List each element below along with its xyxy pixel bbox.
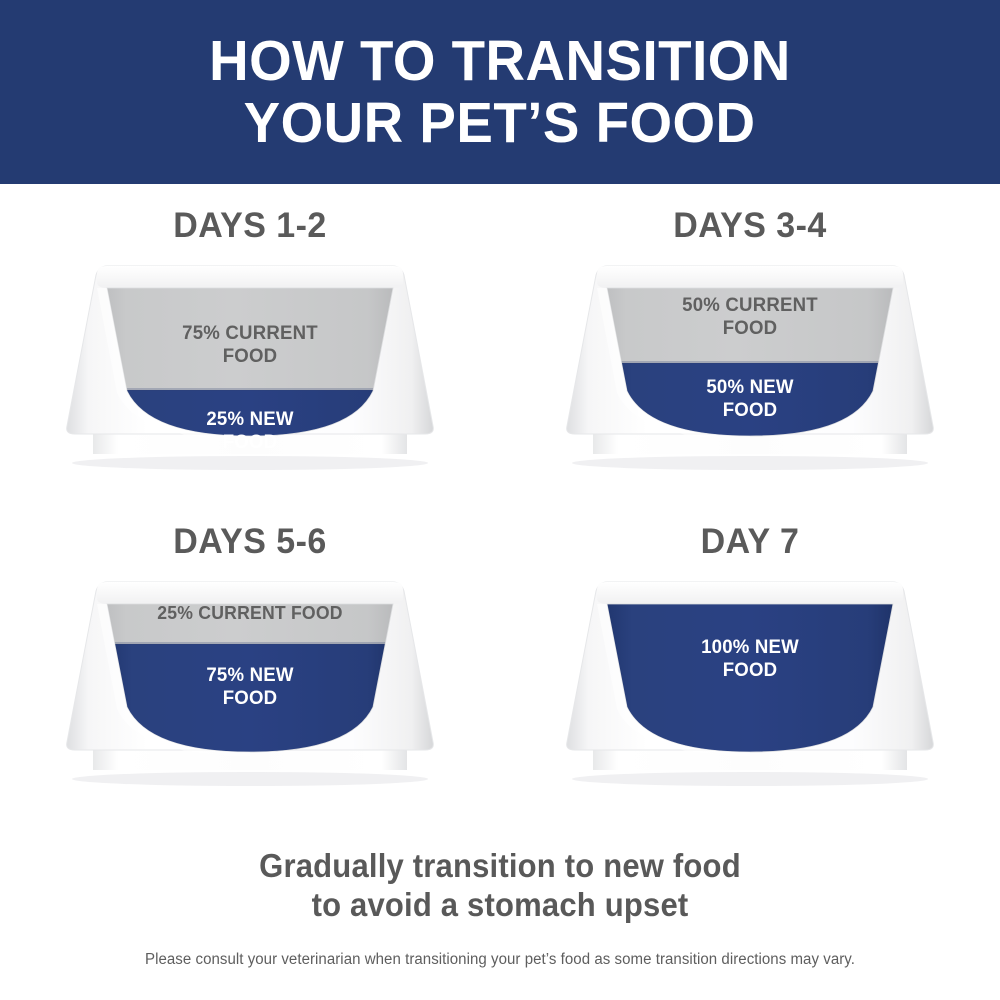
infographic-page: HOW TO TRANSITION YOUR PET’S FOOD DAYS 1… bbox=[0, 0, 1000, 1000]
stage-title-days-1-2: DAYS 1-2 bbox=[8, 206, 493, 246]
bowl-days-1-2: 75% CURRENT FOOD 25% NEW FOOD bbox=[55, 258, 445, 473]
bowl-day-7: 100% NEW FOOD bbox=[555, 574, 945, 789]
header-title-line-2: YOUR PET’S FOOD bbox=[244, 92, 756, 154]
disclaimer-text: Please consult your veterinarian when tr… bbox=[15, 951, 985, 969]
bowl-illustration-icon bbox=[555, 258, 945, 473]
stage-card-days-1-2: DAYS 1-2 bbox=[0, 206, 500, 536]
footer-message: Gradually transition to new food to avoi… bbox=[0, 846, 1000, 924]
bowl-illustration-icon bbox=[55, 258, 445, 473]
header-banner: HOW TO TRANSITION YOUR PET’S FOOD bbox=[0, 0, 1000, 184]
stage-title-day-7: DAY 7 bbox=[508, 522, 993, 562]
bowl-illustration-icon bbox=[555, 574, 945, 789]
footer-line-2: to avoid a stomach upset bbox=[30, 885, 970, 924]
stage-title-days-3-4: DAYS 3-4 bbox=[508, 206, 993, 246]
header-title-line-1: HOW TO TRANSITION bbox=[209, 30, 791, 92]
footer-line-1: Gradually transition to new food bbox=[30, 846, 970, 885]
stage-card-days-3-4: DAYS 3-4 bbox=[500, 206, 1000, 536]
bowl-illustration-icon bbox=[55, 574, 445, 789]
stage-card-day-7: DAY 7 bbox=[500, 522, 1000, 852]
bowl-days-3-4: 50% CURRENT FOOD 50% NEW FOOD bbox=[555, 258, 945, 473]
stage-grid: DAYS 1-2 bbox=[0, 184, 1000, 844]
stage-title-days-5-6: DAYS 5-6 bbox=[8, 522, 493, 562]
bowl-days-5-6: 25% CURRENT FOOD 75% NEW FOOD bbox=[55, 574, 445, 789]
stage-card-days-5-6: DAYS 5-6 bbox=[0, 522, 500, 852]
